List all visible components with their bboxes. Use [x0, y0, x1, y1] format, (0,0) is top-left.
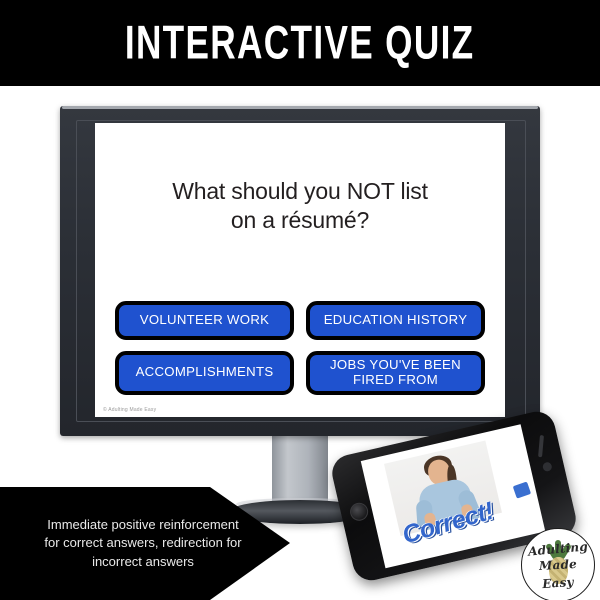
brand-logo-line-2: Made: [522, 556, 595, 574]
answer-options: VOLUNTEER WORK EDUCATION HISTORY ACCOMPL…: [115, 301, 485, 395]
brand-logo: Adulting Made Easy: [521, 528, 595, 600]
answer-option-education-history[interactable]: EDUCATION HISTORY: [306, 301, 485, 340]
monitor-screen: What should you NOT list on a résumé? VO…: [95, 123, 505, 417]
header-banner: INTERACTIVE QUIZ: [0, 0, 600, 86]
answer-option-accomplishments[interactable]: ACCOMPLISHMENTS: [115, 351, 294, 395]
monitor-bezel-highlight: [62, 106, 538, 109]
quiz-question-line-2: on a résumé?: [95, 206, 505, 235]
slide-credit: © Adulting Made Easy: [103, 407, 156, 413]
product-image-canvas: INTERACTIVE QUIZ What should you NOT lis…: [0, 0, 600, 600]
brand-logo-line-3: Easy: [522, 574, 595, 593]
caption-text: Immediate positive reinforcement for cor…: [40, 516, 250, 571]
monitor: What should you NOT list on a résumé? VO…: [60, 106, 540, 436]
quiz-question-line-1: What should you NOT list: [95, 177, 505, 206]
page-title: INTERACTIVE QUIZ: [125, 19, 475, 66]
answer-option-volunteer-work[interactable]: VOLUNTEER WORK: [115, 301, 294, 340]
slide-blue-shape-icon: [513, 481, 531, 498]
quiz-question: What should you NOT list on a résumé?: [95, 177, 505, 236]
monitor-stand-neck: [272, 434, 328, 508]
answer-option-jobs-fired-from[interactable]: JOBS YOU'VE BEEN FIRED FROM: [306, 351, 485, 395]
